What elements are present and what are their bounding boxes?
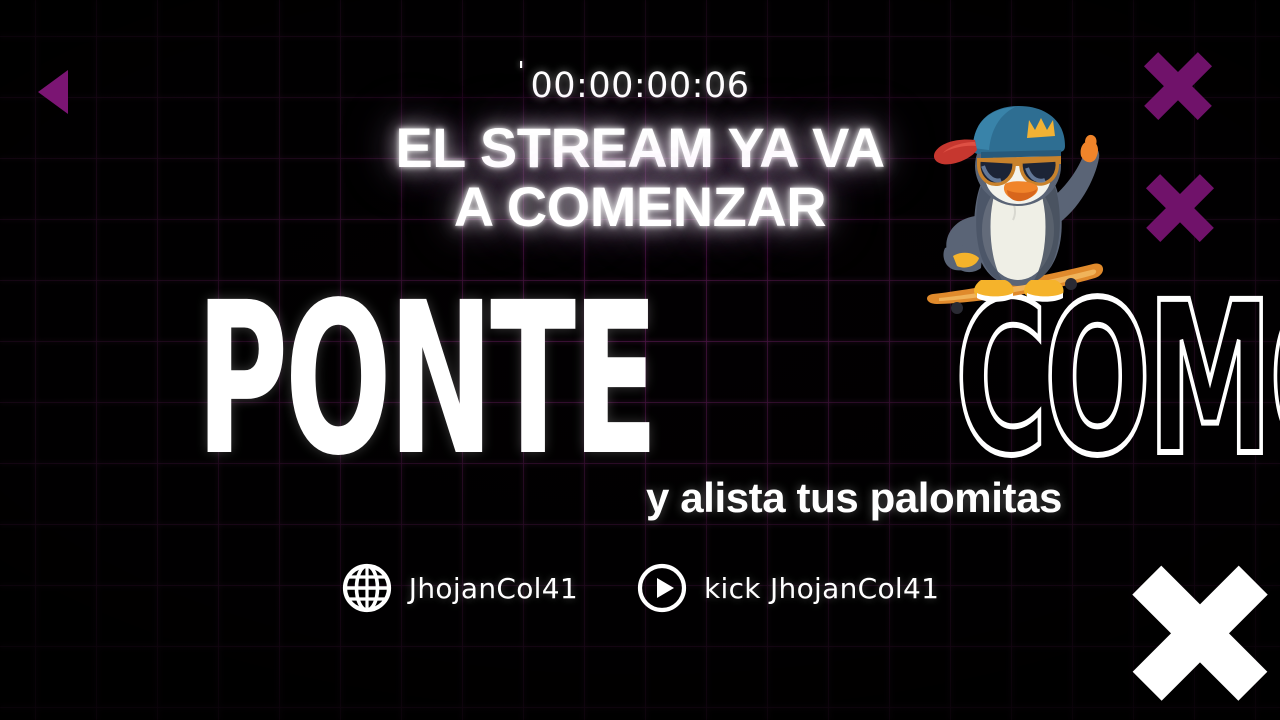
timer-tick-mark: ' — [517, 57, 525, 87]
countdown-value: '00:00:00:06 — [530, 66, 749, 106]
globe-icon — [341, 562, 393, 614]
social-label-website: JhojanCol41 — [409, 572, 578, 605]
kicker-line-1: EL STREAM YA VA — [395, 116, 884, 179]
social-item-website[interactable]: JhojanCol41 — [341, 562, 578, 614]
headline-solid-word: PONTE — [196, 296, 655, 464]
subheadline: y alista tus palomitas — [646, 474, 1062, 522]
stream-starting-soon-overlay: '00:00:00:06 EL STREAM YA VA A COMENZAR … — [0, 0, 1280, 720]
social-label-kick: kick JhojanCol41 — [704, 572, 939, 605]
baseball-cap — [934, 106, 1065, 164]
social-item-kick[interactable]: kick JhojanCol41 — [636, 562, 939, 614]
social-handles-row: JhojanCol41 kick JhojanCol41 — [0, 562, 1280, 614]
play-circle-icon — [636, 562, 688, 614]
penguin-mascot — [915, 98, 1120, 323]
